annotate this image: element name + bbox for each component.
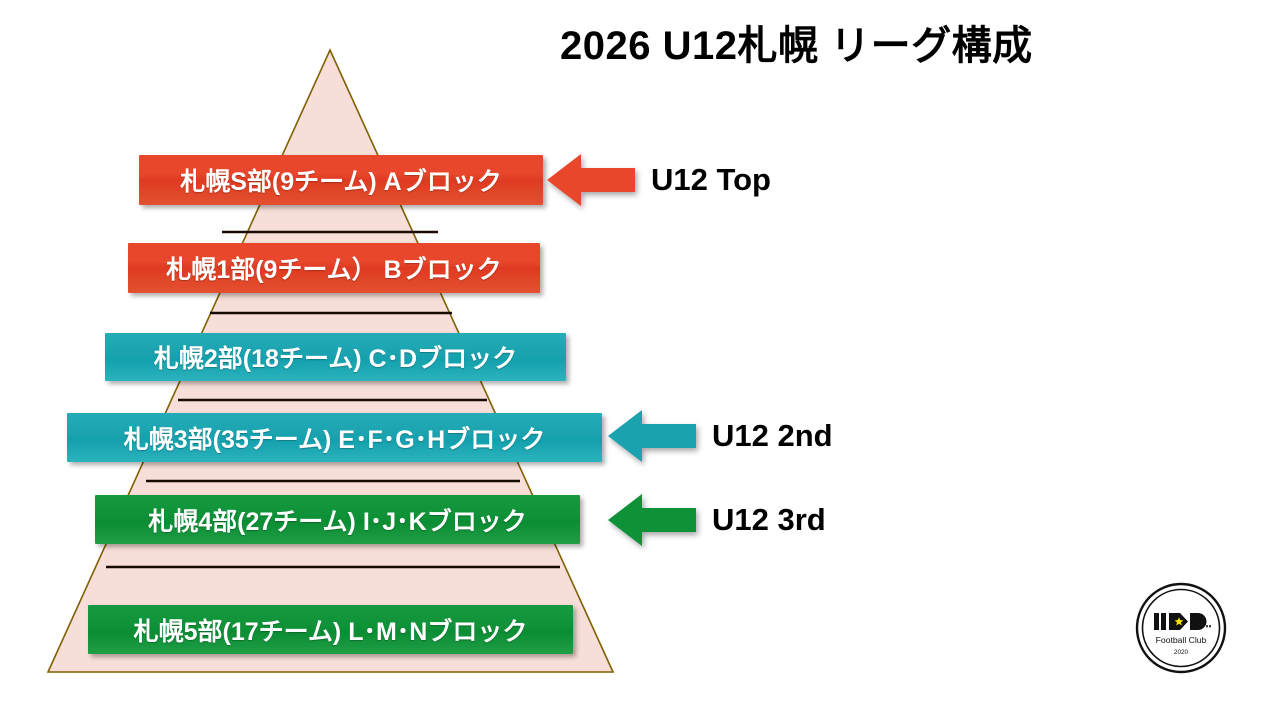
tier-label-sapporo-1: 札幌1部(9チーム） Bブロック — [166, 250, 501, 286]
tier-bar-sapporo-s[interactable]: 札幌S部(9チーム) Aブロック — [139, 155, 543, 205]
club-logo: Football Club 2020 — [1135, 582, 1227, 674]
left-arrow-icon — [547, 152, 635, 208]
tier-bar-sapporo-5[interactable]: 札幌5部(17チーム) L･M･Nブロック — [88, 605, 573, 654]
tier-label-sapporo-2: 札幌2部(18チーム) C･Dブロック — [154, 339, 517, 375]
logo-year: 2020 — [1174, 649, 1189, 656]
tier-bar-sapporo-3[interactable]: 札幌3部(35チーム) E･F･G･Hブロック — [67, 413, 602, 462]
tier-label-sapporo-4: 札幌4部(27チーム) I･J･Kブロック — [148, 502, 526, 538]
tier-bar-sapporo-1[interactable]: 札幌1部(9チーム） Bブロック — [128, 243, 540, 293]
callout-label-u12-top: U12 Top — [651, 162, 771, 198]
slide-canvas: 2026 U12札幌 リーグ構成 札幌S部(9チーム) Aブロック 札幌1部(9… — [0, 0, 1280, 720]
callout-u12-3rd[interactable]: U12 3rd — [608, 492, 826, 548]
tier-bar-sapporo-2[interactable]: 札幌2部(18チーム) C･Dブロック — [105, 333, 566, 381]
page-title: 2026 U12札幌 リーグ構成 — [560, 18, 1180, 74]
left-arrow-icon — [608, 492, 696, 548]
tier-label-sapporo-s: 札幌S部(9チーム) Aブロック — [180, 162, 501, 198]
logo-subtitle: Football Club — [1156, 635, 1207, 645]
callout-u12-top[interactable]: U12 Top — [547, 152, 771, 208]
callout-u12-2nd[interactable]: U12 2nd — [608, 408, 833, 464]
tier-bar-sapporo-4[interactable]: 札幌4部(27チーム) I･J･Kブロック — [95, 495, 580, 544]
tier-label-sapporo-5: 札幌5部(17チーム) L･M･Nブロック — [134, 612, 528, 648]
tier-label-sapporo-3: 札幌3部(35チーム) E･F･G･Hブロック — [124, 420, 546, 456]
callout-label-u12-2nd: U12 2nd — [712, 418, 833, 454]
left-arrow-icon — [608, 408, 696, 464]
callout-label-u12-3rd: U12 3rd — [712, 502, 826, 538]
